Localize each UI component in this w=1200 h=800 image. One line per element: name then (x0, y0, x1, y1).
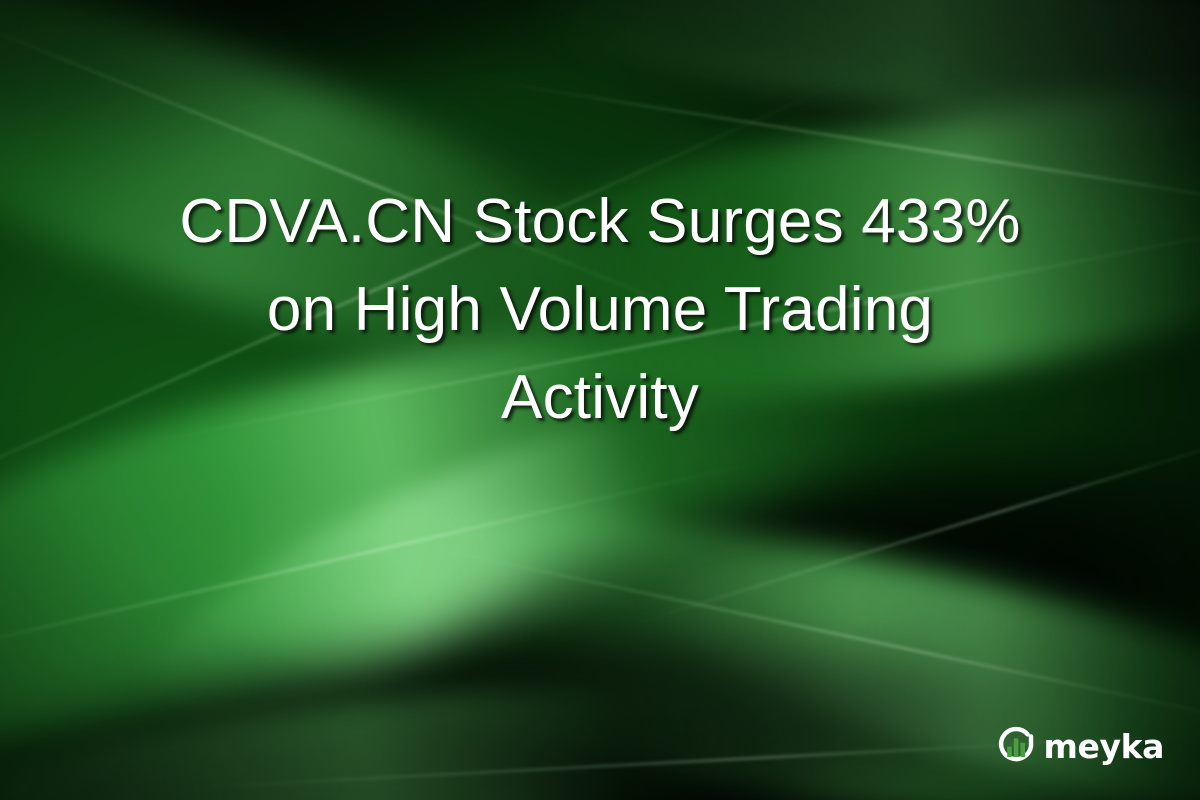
brand-logo: meyka (994, 724, 1165, 768)
background-glow-streak (0, 653, 825, 800)
page-title: CDVA.CN Stock Surges 433% on High Volume… (0, 178, 1200, 442)
share-card-canvas: CDVA.CN Stock Surges 433% on High Volume… (0, 0, 1200, 800)
circle-bar-chart-icon (994, 724, 1038, 768)
background-dark-band (0, 577, 1092, 800)
brand-wordmark: meyka (1044, 730, 1165, 763)
background-glow-streak (536, 0, 1200, 138)
background-filament (0, 459, 769, 663)
background-filament (635, 418, 1200, 625)
background-filament (430, 546, 1200, 735)
